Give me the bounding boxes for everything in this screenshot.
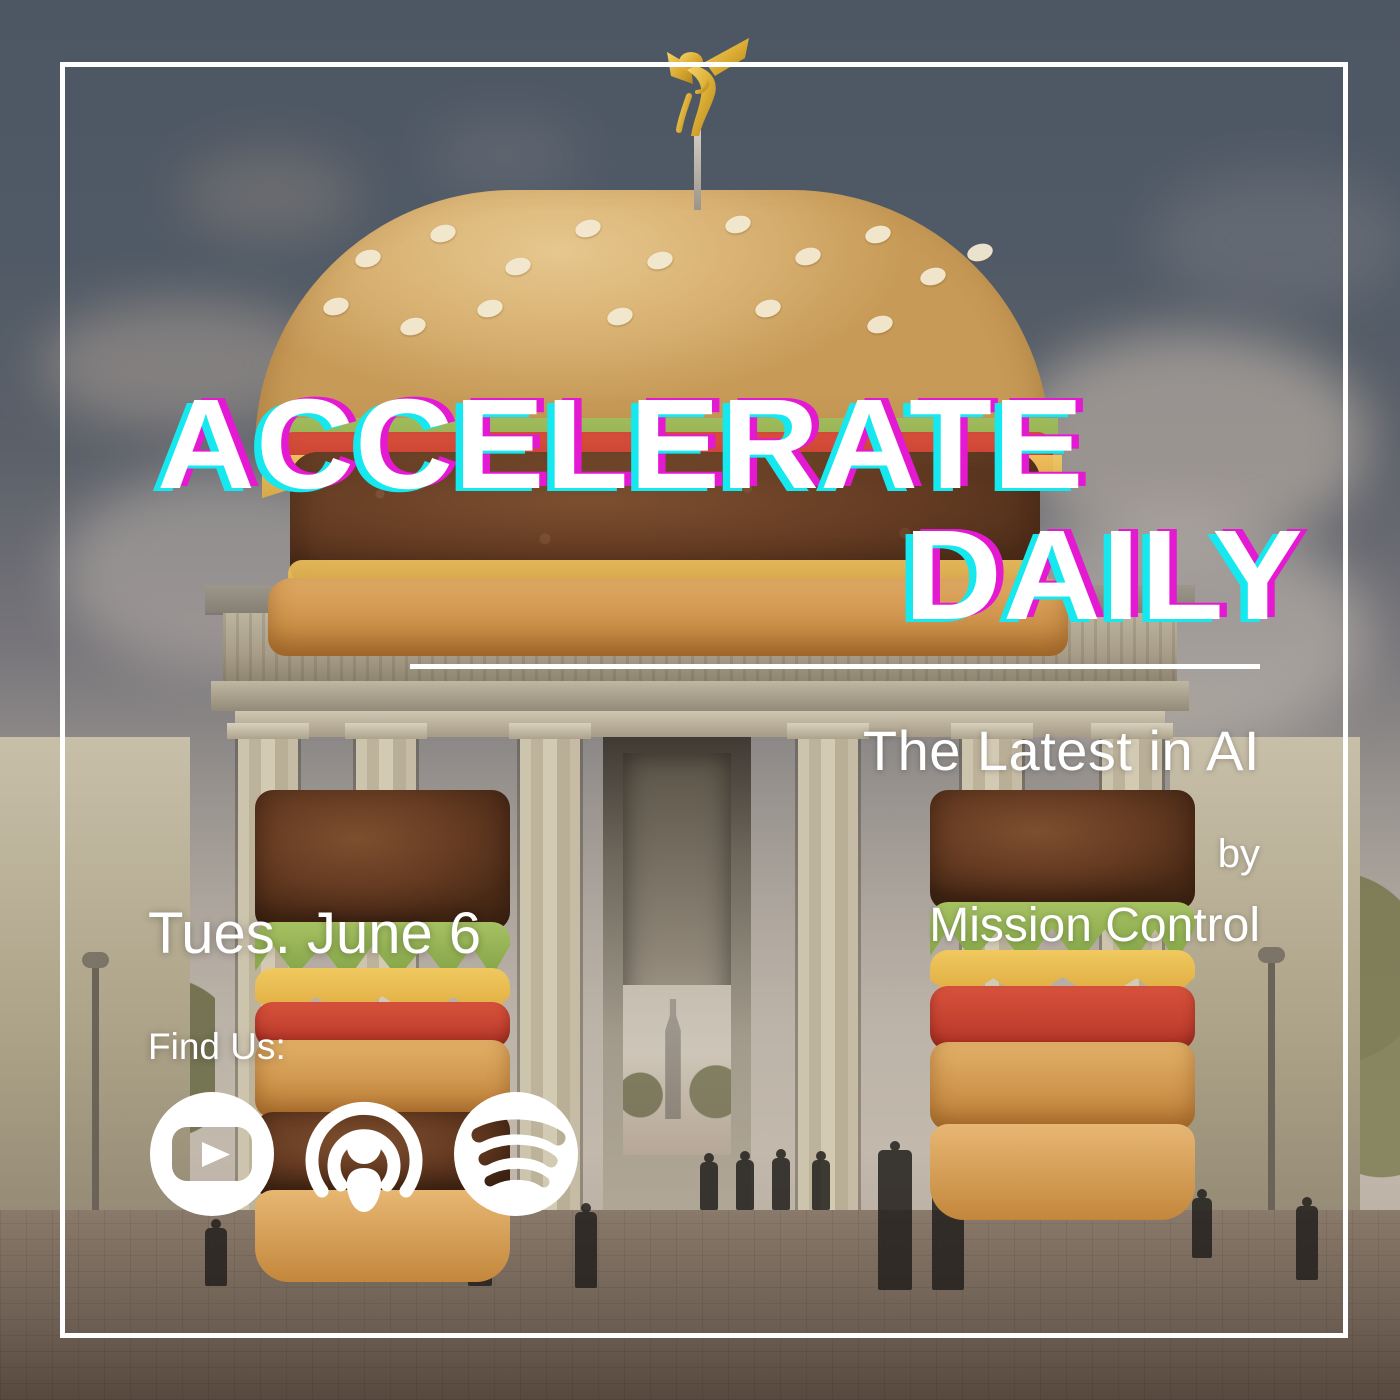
episode-date: Tues. June 6 [148, 900, 481, 967]
poster-content: ACCELERATE DAILY The Latest in AI by Mis… [0, 0, 1400, 1400]
page-title: ACCELERATE DAILY [0, 384, 1400, 637]
apple-podcasts-icon[interactable] [300, 1090, 428, 1218]
podcast-cover-poster: ACCELERATE DAILY The Latest in AI by Mis… [0, 0, 1400, 1400]
byline-prefix: by [1218, 832, 1260, 877]
social-links [148, 1090, 580, 1218]
title-divider [410, 664, 1260, 669]
find-us-label: Find Us: [148, 1026, 286, 1068]
youtube-icon[interactable] [148, 1090, 276, 1218]
byline-name: Mission Control [929, 898, 1260, 953]
title-line-2: DAILY [157, 515, 1327, 637]
title-line-1: ACCELERATE [157, 384, 1327, 506]
spotify-icon[interactable] [452, 1090, 580, 1218]
subtitle: The Latest in AI [863, 718, 1260, 783]
